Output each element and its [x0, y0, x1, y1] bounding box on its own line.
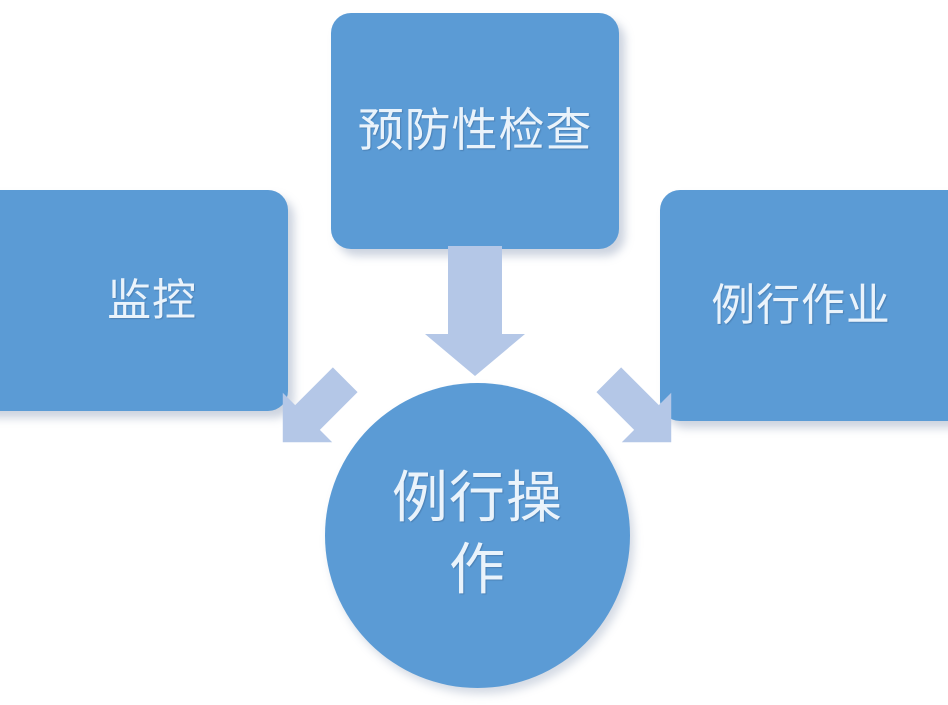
node-routine-job-label: 例行作业	[711, 280, 891, 332]
node-monitoring-label: 监控	[107, 275, 197, 327]
node-routine-job[interactable]: 例行作业	[660, 190, 948, 421]
node-monitoring[interactable]: 监控	[0, 190, 288, 411]
node-routine-operation[interactable]: 例行操作	[325, 383, 630, 688]
node-routine-operation-label: 例行操作	[366, 464, 590, 607]
arrow-down-icon	[425, 246, 525, 376]
node-preventive-inspection-label: 预防性检查	[358, 104, 593, 158]
diagram-canvas: 预防性检查 监控 例行作业 例行操作	[0, 0, 948, 705]
node-preventive-inspection[interactable]: 预防性检查	[331, 13, 619, 249]
